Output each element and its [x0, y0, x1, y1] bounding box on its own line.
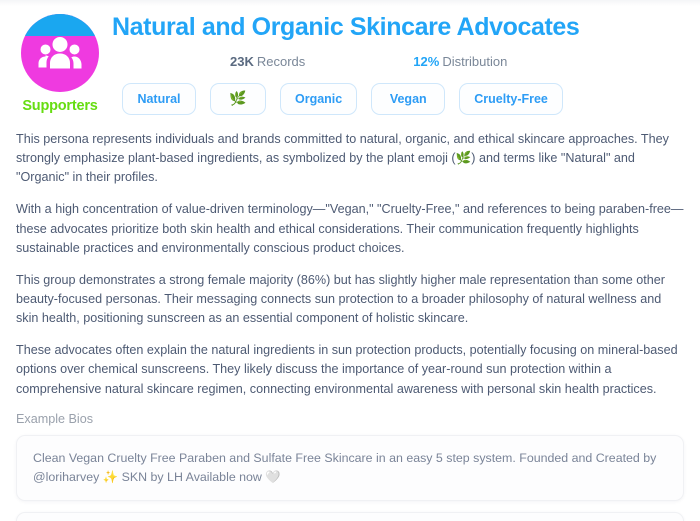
tag-organic[interactable]: Organic	[280, 83, 357, 115]
persona-description: This persona represents individuals and …	[8, 128, 692, 399]
stat-records: 23KRecords	[230, 54, 305, 69]
avatar-label: Supporters	[14, 98, 106, 114]
description-paragraph-4: These advocates often explain the natura…	[16, 341, 684, 398]
description-paragraph-2: With a high concentration of value-drive…	[16, 200, 684, 257]
bio-card: Monbair India LLP is a professional manu…	[16, 512, 684, 521]
people-group-icon	[36, 30, 84, 78]
avatar	[21, 14, 99, 92]
avatar-block: Supporters	[14, 14, 106, 114]
tag-vegan[interactable]: Vegan	[371, 83, 445, 115]
tag-cruelty-free[interactable]: Cruelty-Free	[459, 83, 563, 115]
page-title: Natural and Organic Skincare Advocates	[112, 8, 692, 42]
tag-list: Natural 🌿 Organic Vegan Cruelty-Free	[112, 83, 692, 115]
stat-records-value: 23K	[230, 54, 254, 69]
tag-plant-emoji[interactable]: 🌿	[210, 83, 266, 115]
stat-distribution: 12%Distribution	[413, 54, 507, 69]
persona-detail-page: Supporters Natural and Organic Skincare …	[0, 0, 700, 521]
persona-header: Supporters Natural and Organic Skincare …	[8, 8, 692, 128]
description-paragraph-1: This persona represents individuals and …	[16, 130, 684, 187]
stat-records-label: Records	[257, 54, 305, 69]
stats-row: 23KRecords 12%Distribution	[112, 54, 692, 69]
header-main: Natural and Organic Skincare Advocates 2…	[112, 8, 692, 115]
bio-card: Clean Vegan Cruelty Free Paraben and Sul…	[16, 435, 684, 501]
stat-distribution-value: 12%	[413, 54, 439, 69]
stat-distribution-label: Distribution	[442, 54, 507, 69]
description-paragraph-3: This group demonstrates a strong female …	[16, 271, 684, 328]
example-bios-heading: Example Bios	[8, 412, 692, 426]
tag-natural[interactable]: Natural	[122, 83, 196, 115]
